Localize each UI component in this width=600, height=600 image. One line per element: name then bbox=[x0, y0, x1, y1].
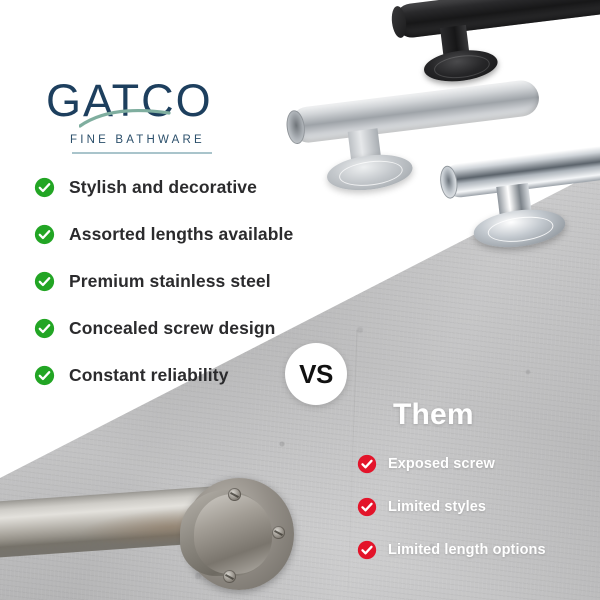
exposed-screw-icon bbox=[272, 526, 285, 539]
list-item-label: Limited styles bbox=[388, 499, 486, 515]
check-circle-icon bbox=[34, 365, 55, 386]
list-item-label: Stylish and decorative bbox=[69, 177, 257, 198]
check-circle-icon bbox=[34, 318, 55, 339]
check-circle-icon bbox=[357, 497, 377, 517]
list-item: Limited styles bbox=[357, 491, 546, 523]
vs-badge: VS bbox=[285, 343, 347, 405]
list-item-label: Exposed screw bbox=[388, 456, 495, 472]
product-comparison-graphic: GATCO FINE BATHWARE Stylish and decorati… bbox=[0, 0, 600, 600]
them-heading: Them bbox=[393, 398, 474, 432]
brand-name: GATCO bbox=[46, 78, 286, 123]
old-bar-knuckle bbox=[194, 494, 272, 574]
list-item: Exposed screw bbox=[357, 448, 546, 480]
list-item-label: Concealed screw design bbox=[69, 318, 275, 339]
list-item: Premium stainless steel bbox=[34, 262, 293, 300]
logo-underline bbox=[72, 152, 212, 154]
list-item-label: Assorted lengths available bbox=[69, 224, 293, 245]
list-item-label: Constant reliability bbox=[69, 365, 229, 386]
list-item-label: Limited length options bbox=[388, 542, 546, 558]
list-item: Assorted lengths available bbox=[34, 215, 293, 253]
exposed-screw-icon bbox=[228, 488, 241, 501]
black-bar-tube bbox=[393, 0, 600, 39]
brand-tagline: FINE BATHWARE bbox=[70, 134, 286, 146]
list-item: Stylish and decorative bbox=[34, 168, 293, 206]
old-tarnished-grab-bar-image bbox=[0, 470, 300, 600]
list-item-label: Premium stainless steel bbox=[69, 271, 271, 292]
check-circle-icon bbox=[357, 540, 377, 560]
check-circle-icon bbox=[34, 271, 55, 292]
polished-chrome-grab-bar-image bbox=[437, 141, 600, 273]
exposed-screw-icon bbox=[223, 570, 236, 583]
list-item: Limited length options bbox=[357, 534, 546, 566]
gatco-benefits-list: Stylish and decorative Assorted lengths … bbox=[34, 168, 293, 403]
brand-logo: GATCO FINE BATHWARE bbox=[46, 78, 286, 154]
them-drawbacks-list: Exposed screw Limited styles Limited len… bbox=[357, 448, 546, 577]
list-item: Concealed screw design bbox=[34, 309, 293, 347]
vs-label: VS bbox=[299, 359, 333, 390]
check-circle-icon bbox=[34, 177, 55, 198]
check-circle-icon bbox=[34, 224, 55, 245]
check-circle-icon bbox=[357, 454, 377, 474]
list-item: Constant reliability bbox=[34, 356, 293, 394]
